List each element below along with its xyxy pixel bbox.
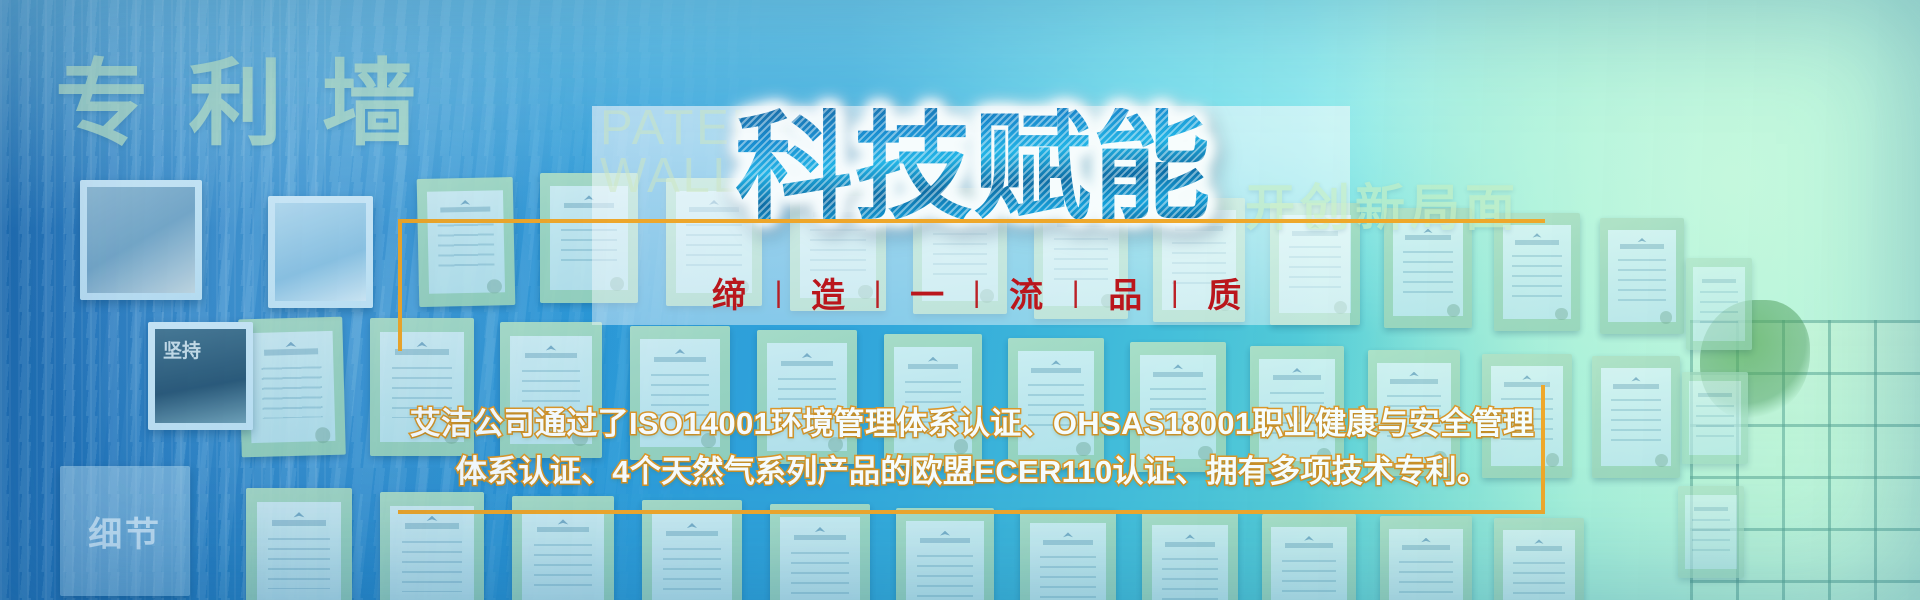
tagline-char: 缔 <box>712 268 747 317</box>
tagline-char: 一 <box>910 268 945 317</box>
tagline-separator: | <box>874 276 882 310</box>
tagline-char: 品 <box>1108 268 1143 317</box>
poster-persistence: 坚持 <box>148 322 253 430</box>
tagline-separator: | <box>1171 276 1179 310</box>
tagline: 缔 | 造 | 一 | 流 | 品 | 质 <box>712 268 1242 317</box>
tagline-separator: | <box>775 276 783 310</box>
patent-wall-banner: 坚持 细节 专利墙 PATENT WALL 开创新局面 科技赋能 缔 | 造 |… <box>0 0 1920 600</box>
body-line: 体系认证、4个天然气系列产品的欧盟ECER110认证、拥有多项技术专利。 <box>398 448 1546 496</box>
tagline-separator: | <box>973 276 981 310</box>
tagline-char: 造 <box>811 268 846 317</box>
page-title: 科技赋能 <box>735 108 1212 228</box>
frame-border-bottom <box>398 510 1545 514</box>
body-line: 艾洁公司通过了ISO14001环境管理体系认证、OHSAS18001职业健康与安… <box>398 400 1546 448</box>
poster-photo-ice <box>268 196 373 308</box>
poster-detail: 细节 <box>60 466 190 596</box>
frame-border-top <box>398 219 1545 223</box>
poster-label: 细节 <box>88 507 161 556</box>
wall-mark-right-slogan: 开创新局面 <box>1245 168 1520 240</box>
wall-mark-chinese: 专利墙 <box>55 28 455 164</box>
frame-border-left <box>398 219 402 351</box>
poster-label: 坚持 <box>155 329 201 363</box>
poster-photo-writing <box>80 180 202 300</box>
tagline-char: 流 <box>1009 268 1044 317</box>
tagline-char: 质 <box>1207 268 1242 317</box>
body-description: 艾洁公司通过了ISO14001环境管理体系认证、OHSAS18001职业健康与安… <box>398 400 1546 496</box>
tagline-separator: | <box>1072 276 1080 310</box>
